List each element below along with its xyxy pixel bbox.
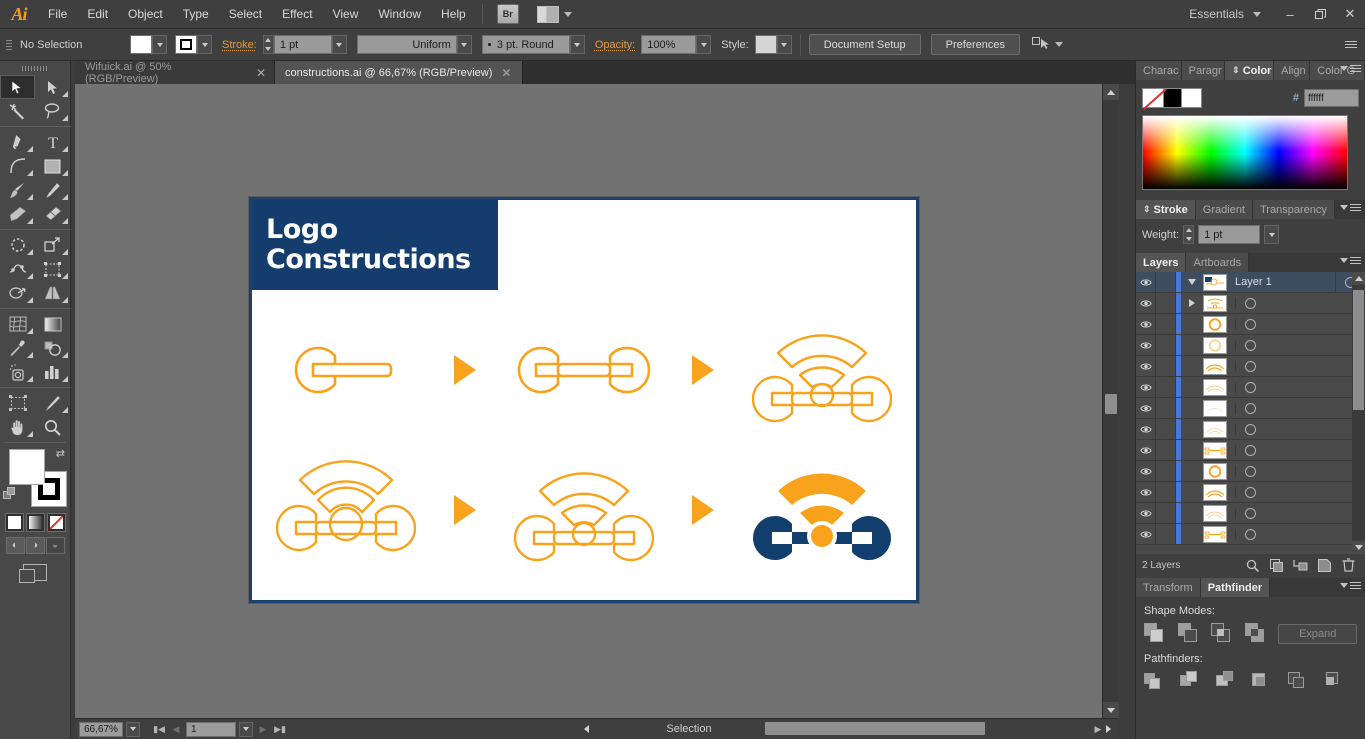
layer-visibility-toggle[interactable] <box>1136 503 1156 523</box>
layer-lock-toggle[interactable] <box>1156 356 1176 376</box>
layer-target-button[interactable] <box>1235 298 1265 309</box>
weight-label: Weight: <box>1142 229 1179 241</box>
panel-weight-field[interactable]: 1 pt <box>1198 225 1260 244</box>
layer-row[interactable] <box>1136 314 1365 335</box>
draw-inside-button[interactable]: ◒ <box>46 537 65 554</box>
screen-mode-row: ◐ ◑ ◒ <box>0 537 70 554</box>
color-swatch-row: # ffffff <box>1142 86 1359 110</box>
construction-row-2 <box>252 445 916 575</box>
expand-button[interactable]: Expand <box>1278 624 1357 644</box>
panel-stroke-swatch[interactable] <box>1182 88 1202 108</box>
layer-lock-toggle[interactable] <box>1156 293 1176 313</box>
brush-definition-field[interactable]: 3 pt. Round <box>482 35 570 54</box>
step-arrow-1 <box>440 353 490 387</box>
scale-tool[interactable] <box>35 233 70 257</box>
layer-thumbnail <box>1203 463 1227 480</box>
layer-visibility-toggle[interactable] <box>1136 335 1156 355</box>
hex-input[interactable]: ffffff <box>1304 89 1359 107</box>
minus-back-icon[interactable] <box>1324 671 1346 693</box>
artwork-title-line1: Logo <box>266 215 498 245</box>
step-open-end-wrench-outline[interactable] <box>252 334 440 406</box>
stroke-panel-tabs: ⇕ Stroke Gradient Transparency <box>1136 200 1365 219</box>
divide-icon[interactable] <box>1144 671 1166 693</box>
panel-weight-dropdown[interactable] <box>1264 225 1279 244</box>
layer-expand-toggle[interactable] <box>1181 279 1203 285</box>
hand-tool[interactable] <box>0 415 35 439</box>
chevron-down-icon[interactable] <box>1188 279 1196 285</box>
layer-visibility-toggle[interactable] <box>1136 398 1156 418</box>
layer-row[interactable] <box>1136 377 1365 398</box>
layer-color-bar <box>1176 440 1181 460</box>
magic-wand-tool[interactable] <box>0 99 35 123</box>
arrange-documents-icon[interactable] <box>537 6 559 23</box>
layer-target-button[interactable] <box>1235 424 1265 435</box>
step-arrow-3 <box>440 493 490 527</box>
layer-lock-toggle[interactable] <box>1156 398 1176 418</box>
layer-lock-toggle[interactable] <box>1156 272 1176 292</box>
status-bar: 66,67% ▮◀ ◀ 1 ▶ ▶▮ Selection ▶ <box>75 718 1118 739</box>
stroke-profile-dropdown[interactable] <box>457 35 472 54</box>
tab-align[interactable]: Align <box>1274 61 1310 80</box>
canvas-area[interactable]: Logo Constructions <box>75 84 1118 718</box>
document-tab-constructions[interactable]: constructions.ai @ 66,67% (RGB/Preview) … <box>275 61 523 84</box>
tab-artboards[interactable]: Artboards <box>1186 253 1249 272</box>
menu-select[interactable]: Select <box>219 0 272 29</box>
default-fill-stroke-icon[interactable] <box>3 487 16 500</box>
document-tab-wifuick[interactable]: Wifuick.ai @ 50% (RGB/Preview) ✕ <box>75 61 275 84</box>
layer-lock-toggle[interactable] <box>1156 482 1176 502</box>
layer-lock-toggle[interactable] <box>1156 335 1176 355</box>
merge-icon[interactable] <box>1216 671 1238 693</box>
layer-color-bar <box>1176 461 1181 481</box>
layers-panel-menu-icon[interactable] <box>1340 257 1361 264</box>
layer-thumbnail <box>1203 295 1227 312</box>
artboard[interactable]: Logo Constructions <box>249 197 919 603</box>
zoom-tool[interactable] <box>35 415 70 439</box>
layer-row[interactable] <box>1136 524 1365 545</box>
layer-row[interactable] <box>1136 503 1365 524</box>
step-arrow-2 <box>678 353 728 387</box>
color-panel-menu-icon[interactable] <box>1340 65 1361 72</box>
layer-name <box>1227 319 1365 330</box>
pathfinders-row <box>1144 671 1357 693</box>
draw-behind-button[interactable]: ◑ <box>26 537 45 554</box>
tools-panel: T <box>0 61 71 739</box>
fill-color-swatch[interactable] <box>9 449 45 485</box>
fill-swatch[interactable] <box>130 35 152 54</box>
fill-dropdown[interactable] <box>152 35 167 54</box>
first-artboard-button[interactable]: ▮◀ <box>152 721 166 737</box>
layer-color-bar <box>1176 524 1181 544</box>
panel-fill-swatch[interactable] <box>1164 88 1182 108</box>
layer-color-bar <box>1176 503 1181 523</box>
menu-type[interactable]: Type <box>173 0 219 29</box>
canvas-vertical-scrollbar[interactable] <box>1102 84 1118 718</box>
color-panel-body: # ffffff <box>1136 80 1365 196</box>
menu-effect[interactable]: Effect <box>272 0 322 29</box>
locate-object-icon[interactable] <box>1241 556 1263 574</box>
brush-definition-dropdown[interactable] <box>570 35 585 54</box>
layer-thumbnail <box>1203 505 1227 522</box>
layer-row[interactable] <box>1136 356 1365 377</box>
layer-thumbnail <box>1203 316 1227 333</box>
layer-target-button[interactable] <box>1235 382 1265 393</box>
layer-visibility-toggle[interactable] <box>1136 419 1156 439</box>
opacity-dropdown[interactable] <box>696 35 711 54</box>
vertical-scroll-thumb[interactable] <box>1105 394 1117 414</box>
fill-type-row <box>0 513 70 532</box>
scroll-left-icon[interactable] <box>578 721 594 737</box>
selection-tool[interactable] <box>0 75 35 99</box>
layer-name <box>1227 529 1365 540</box>
gradient-tool[interactable] <box>35 312 70 336</box>
stroke-dropdown[interactable] <box>197 35 212 54</box>
paintbrush-tool[interactable] <box>0 178 35 202</box>
layers-scroll-down-icon[interactable] <box>1352 541 1365 554</box>
control-bar-grip[interactable] <box>6 40 14 50</box>
artboard-dropdown[interactable] <box>239 722 253 737</box>
delete-layer-icon[interactable] <box>1337 556 1359 574</box>
intersect-icon[interactable] <box>1211 623 1233 645</box>
app-logo-icon: Ai <box>0 0 38 29</box>
swap-fill-stroke-icon[interactable]: ⇄ <box>56 447 65 460</box>
restore-icon <box>1315 9 1326 20</box>
layer-row[interactable] <box>1136 398 1365 419</box>
close-icon[interactable]: ✕ <box>256 66 266 80</box>
scroll-down-icon[interactable] <box>1103 702 1119 718</box>
close-icon[interactable]: ✕ <box>501 66 511 80</box>
selection-status: No Selection <box>20 39 130 51</box>
layer-visibility-toggle[interactable] <box>1136 482 1156 502</box>
layer-name <box>1227 382 1365 393</box>
rectangle-tool[interactable] <box>35 154 70 178</box>
layer-visibility-toggle[interactable] <box>1136 272 1156 292</box>
minus-front-icon[interactable] <box>1178 623 1200 645</box>
width-tool[interactable] <box>0 257 35 281</box>
svg-text:T: T <box>48 135 58 150</box>
exclude-icon[interactable] <box>1245 623 1267 645</box>
layer-row[interactable] <box>1136 440 1365 461</box>
tab-color-label: Color <box>1243 65 1272 77</box>
layers-count: 2 Layers <box>1142 560 1180 571</box>
layer-name: Layer 1 <box>1227 276 1335 288</box>
layer-visibility-toggle[interactable] <box>1136 314 1156 334</box>
symbol-sprayer-tool[interactable] <box>0 360 35 384</box>
none-fill-button[interactable] <box>47 513 66 532</box>
make-clipping-mask-icon[interactable] <box>1265 556 1287 574</box>
stroke-weight-stepper[interactable] <box>263 35 274 54</box>
layer-target-button[interactable] <box>1235 403 1265 414</box>
workspace-switcher[interactable]: Essentials <box>1189 7 1248 21</box>
menu-object[interactable]: Object <box>118 0 173 29</box>
tools-panel-grip[interactable] <box>0 61 70 75</box>
pen-tool[interactable] <box>0 130 35 154</box>
outline-icon[interactable] <box>1288 671 1310 693</box>
chevron-right-icon[interactable] <box>1189 299 1195 307</box>
close-button[interactable]: ✕ <box>1335 3 1365 25</box>
layer-row[interactable] <box>1136 461 1365 482</box>
tab-transparency[interactable]: Transparency <box>1253 200 1335 219</box>
layer-target-button[interactable] <box>1235 508 1265 519</box>
menu-window[interactable]: Window <box>368 0 431 29</box>
none-color-icon[interactable] <box>1142 88 1164 108</box>
layer-row[interactable] <box>1136 419 1365 440</box>
step-wifi-wrench-overlay-outline[interactable] <box>252 454 440 566</box>
layer-name <box>1227 508 1365 519</box>
brush-definition-label: 3 pt. Round <box>497 39 554 51</box>
layer-name <box>1227 487 1365 498</box>
stroke-swatch[interactable] <box>175 35 197 54</box>
stroke-weight-field[interactable]: 1 pt <box>274 35 332 54</box>
previous-artboard-button[interactable]: ◀ <box>169 721 183 737</box>
perspective-grid-tool[interactable] <box>35 281 70 305</box>
layer-thumbnail <box>1203 421 1227 438</box>
free-transform-tool[interactable] <box>35 257 70 281</box>
restore-button[interactable] <box>1305 3 1335 25</box>
layers-panel-tabs: Layers Artboards <box>1136 253 1365 272</box>
layer-target-button[interactable] <box>1235 529 1265 540</box>
eraser-tool[interactable] <box>35 202 70 226</box>
layer-target-button[interactable] <box>1235 466 1265 477</box>
stroke-weight-dropdown[interactable] <box>332 35 347 54</box>
artboard-tool[interactable] <box>0 391 35 415</box>
eyedropper-tool[interactable] <box>0 336 35 360</box>
hex-label: # <box>1293 92 1299 104</box>
menu-edit[interactable]: Edit <box>77 0 118 29</box>
pathfinder-panel-body: Shape Modes: Expand Pathfinders: <box>1136 597 1365 699</box>
create-new-sublayer-icon[interactable] <box>1289 556 1311 574</box>
construction-row-1 <box>252 305 916 435</box>
layer-visibility-toggle[interactable] <box>1136 461 1156 481</box>
layer-rows-container: Layer 1 <box>1136 272 1365 545</box>
layers-list[interactable]: Layer 1 <box>1136 272 1365 554</box>
layer-name <box>1227 403 1365 414</box>
layer-name <box>1227 361 1365 372</box>
pencil-tool[interactable] <box>35 178 70 202</box>
shape-modes-label: Shape Modes: <box>1144 605 1357 617</box>
bridge-icon[interactable]: Br <box>497 4 519 24</box>
layer-thumbnail <box>1203 379 1227 396</box>
layer-visibility-toggle[interactable] <box>1136 356 1156 376</box>
blend-tool[interactable] <box>35 336 70 360</box>
shape-modes-row: Expand <box>1144 623 1357 645</box>
layer-thumbnail <box>1203 484 1227 501</box>
layer-color-bar <box>1176 419 1181 439</box>
step-arrow-4 <box>678 493 728 527</box>
layer-row[interactable] <box>1136 335 1365 356</box>
preferences-button[interactable]: Preferences <box>931 34 1020 55</box>
panel-collapse-icon: ⇕ <box>1143 204 1151 215</box>
layers-scroll-thumb[interactable] <box>1353 290 1364 410</box>
layers-scroll-up-icon[interactable] <box>1352 272 1365 285</box>
layer-name <box>1227 298 1365 309</box>
layer-name <box>1227 466 1365 477</box>
layer-visibility-toggle[interactable] <box>1136 524 1156 544</box>
slice-tool[interactable] <box>35 391 70 415</box>
direct-selection-tool[interactable] <box>35 75 70 99</box>
layer-color-bar <box>1176 377 1181 397</box>
fill-stroke-controls: ⇄ <box>0 447 71 509</box>
tab-layers[interactable]: Layers <box>1136 253 1186 272</box>
tab-character[interactable]: Charac <box>1136 61 1182 80</box>
workspace-chevron-down-icon[interactable] <box>1253 12 1261 17</box>
layer-name <box>1227 424 1365 435</box>
layer-visibility-toggle[interactable] <box>1136 377 1156 397</box>
layer-lock-toggle[interactable] <box>1156 440 1176 460</box>
layers-panel-footer: 2 Layers <box>1136 554 1365 576</box>
artwork-title-block: Logo Constructions <box>252 200 498 290</box>
menu-help[interactable]: Help <box>431 0 476 29</box>
trim-icon[interactable] <box>1180 671 1202 693</box>
panel-collapse-icon: ⇕ <box>1232 65 1240 76</box>
tab-paragraph[interactable]: Paragr <box>1182 61 1226 80</box>
create-new-layer-icon[interactable] <box>1313 556 1335 574</box>
document-tab-label: constructions.ai @ 66,67% (RGB/Preview) <box>285 67 492 79</box>
layer-name <box>1227 340 1365 351</box>
stroke-profile-field[interactable]: Uniform <box>357 35 457 54</box>
crop-icon[interactable] <box>1252 671 1274 693</box>
document-tab-label: Wifuick.ai @ 50% (RGB/Preview) <box>85 61 247 85</box>
change-screen-mode-button[interactable] <box>0 564 70 581</box>
minimize-button[interactable]: – <box>1275 3 1305 25</box>
layer-thumbnail <box>1203 337 1227 354</box>
layer-lock-toggle[interactable] <box>1156 314 1176 334</box>
unite-icon[interactable] <box>1144 623 1166 645</box>
layer-thumbnail <box>1203 526 1227 543</box>
layer-visibility-toggle[interactable] <box>1136 293 1156 313</box>
gradient-fill-button[interactable] <box>26 513 45 532</box>
arrange-chevron-down-icon[interactable] <box>564 12 572 17</box>
arc-tool[interactable] <box>0 154 35 178</box>
step-wifi-wrench-outline[interactable] <box>728 315 916 425</box>
layer-thumbnail <box>1203 400 1227 417</box>
layer-color-bar <box>1176 356 1181 376</box>
tab-stroke[interactable]: ⇕ Stroke <box>1136 200 1196 219</box>
menu-file[interactable]: File <box>38 0 77 29</box>
brush-dot-icon <box>488 43 491 46</box>
menu-bar: Ai File Edit Object Type Select Effect V… <box>0 0 1365 29</box>
tab-color[interactable]: ⇕ Color <box>1225 61 1274 80</box>
layer-color-bar <box>1176 335 1181 355</box>
tab-transform[interactable]: Transform <box>1136 578 1201 597</box>
menu-divider <box>482 4 483 24</box>
layer-row[interactable]: Layer 1 <box>1136 272 1365 293</box>
shape-builder-tool[interactable] <box>0 281 35 305</box>
zoom-level-dropdown[interactable] <box>126 722 140 737</box>
style-label: Style: <box>721 39 749 51</box>
mesh-tool[interactable] <box>0 312 35 336</box>
pathfinder-panel-tabs: Transform Pathfinder <box>1136 578 1365 597</box>
layer-thumbnail <box>1203 274 1227 291</box>
blob-brush-tool[interactable] <box>0 202 35 226</box>
lasso-tool[interactable] <box>35 99 70 123</box>
layer-target-button[interactable] <box>1235 340 1265 351</box>
layer-name <box>1227 445 1365 456</box>
color-spectrum[interactable] <box>1142 115 1348 190</box>
layer-lock-toggle[interactable] <box>1156 503 1176 523</box>
layer-expand-toggle[interactable] <box>1181 299 1203 307</box>
select-similar-chevron-down-icon[interactable] <box>1055 42 1063 47</box>
control-bar: No Selection Stroke: 1 pt Uniform 3 pt. … <box>0 29 1365 61</box>
color-fill-button[interactable] <box>5 513 24 532</box>
layer-target-button[interactable] <box>1235 487 1265 498</box>
layer-color-bar <box>1176 314 1181 334</box>
pathfinders-label: Pathfinders: <box>1144 653 1357 665</box>
layer-color-bar <box>1176 398 1181 418</box>
color-panel-tabs: Charac Paragr ⇕ Color Align Color G <box>1136 61 1365 80</box>
layer-row[interactable] <box>1136 293 1365 314</box>
layer-lock-toggle[interactable] <box>1156 419 1176 439</box>
stroke-label[interactable]: Stroke: <box>222 39 257 51</box>
layer-lock-toggle[interactable] <box>1156 461 1176 481</box>
layer-color-bar <box>1176 482 1181 502</box>
layer-thumbnail <box>1203 358 1227 375</box>
scroll-up-icon[interactable] <box>1103 84 1119 100</box>
opacity-field[interactable]: 100% <box>641 35 696 54</box>
layer-lock-toggle[interactable] <box>1156 524 1176 544</box>
tab-gradient[interactable]: Gradient <box>1196 200 1253 219</box>
graphic-style-swatch[interactable] <box>755 35 777 54</box>
layer-target-button[interactable] <box>1235 361 1265 372</box>
scroll-right-icon[interactable] <box>1100 721 1116 737</box>
select-similar-objects-icon[interactable] <box>1032 36 1050 53</box>
panel-dock: Charac Paragr ⇕ Color Align Color G # ff… <box>1135 61 1365 739</box>
pathfinder-panel-menu-icon[interactable] <box>1340 582 1361 589</box>
tab-pathfinder[interactable]: Pathfinder <box>1201 578 1270 597</box>
layer-target-button[interactable] <box>1235 445 1265 456</box>
stroke-panel-menu-icon[interactable] <box>1340 204 1361 211</box>
layer-target-button[interactable] <box>1235 319 1265 330</box>
type-tool[interactable]: T <box>35 130 70 154</box>
stroke-weight-row: Weight: 1 pt <box>1136 219 1365 250</box>
panel-weight-stepper[interactable] <box>1183 225 1194 244</box>
layer-visibility-toggle[interactable] <box>1136 440 1156 460</box>
artboard-number-field[interactable]: 1 <box>186 722 236 737</box>
opacity-label[interactable]: Opacity: <box>595 39 635 51</box>
draw-normal-button[interactable]: ◐ <box>6 537 25 554</box>
illustrator-window: Ai File Edit Object Type Select Effect V… <box>0 0 1365 739</box>
menu-view[interactable]: View <box>323 0 369 29</box>
layer-thumbnail <box>1203 442 1227 459</box>
artwork-title-line2: Constructions <box>266 245 498 275</box>
graphic-style-dropdown[interactable] <box>777 35 792 54</box>
tab-stroke-label: Stroke <box>1154 204 1188 216</box>
rotate-tool[interactable] <box>0 233 35 257</box>
document-setup-button[interactable]: Document Setup <box>809 34 921 55</box>
last-artboard-button[interactable]: ▶▮ <box>273 721 287 737</box>
step-double-wrench-outline[interactable] <box>490 334 678 406</box>
zoom-level-field[interactable]: 66,67% <box>79 722 123 737</box>
column-graph-tool[interactable] <box>35 360 70 384</box>
step-wifi-wrench-aligned-outline[interactable] <box>490 455 678 565</box>
horizontal-scroll-thumb[interactable] <box>765 722 985 735</box>
layer-lock-toggle[interactable] <box>1156 377 1176 397</box>
construction-steps <box>252 295 916 595</box>
layer-row[interactable] <box>1136 482 1365 503</box>
control-bar-menu-icon[interactable] <box>1345 41 1357 48</box>
layers-scrollbar[interactable] <box>1352 272 1365 554</box>
next-artboard-button[interactable]: ▶ <box>256 721 270 737</box>
step-wifi-wrench-final-filled[interactable] <box>728 455 916 565</box>
